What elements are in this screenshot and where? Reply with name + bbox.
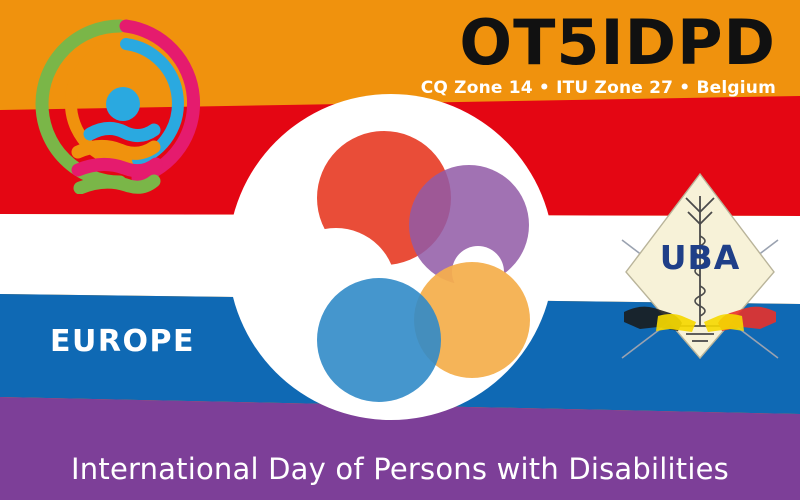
callsign-block: OT5IDPD CQ Zone 14 • ITU Zone 27 • Belgi… xyxy=(421,14,776,98)
qsl-card: UBA OT5IDPD CQ Zone 14 • ITU Zone 27 • B… xyxy=(0,0,800,500)
figure-arm-green xyxy=(80,181,154,188)
region-label: EUROPE xyxy=(50,324,195,359)
figure-arm-magenta xyxy=(78,164,156,171)
four-overlapping-circles-icon xyxy=(226,92,556,422)
figure-head xyxy=(106,87,140,121)
event-caption: International Day of Persons with Disabi… xyxy=(0,452,800,486)
idpd-person-arcs-icon xyxy=(34,18,206,194)
blue-circle xyxy=(317,278,441,402)
callsign-text: OT5IDPD xyxy=(421,14,776,73)
figure-arm-blue xyxy=(90,128,154,135)
figure-arm-orange xyxy=(78,146,154,153)
uba-label: UBA xyxy=(602,238,798,277)
zone-info-text: CQ Zone 14 • ITU Zone 27 • Belgium xyxy=(421,78,776,98)
